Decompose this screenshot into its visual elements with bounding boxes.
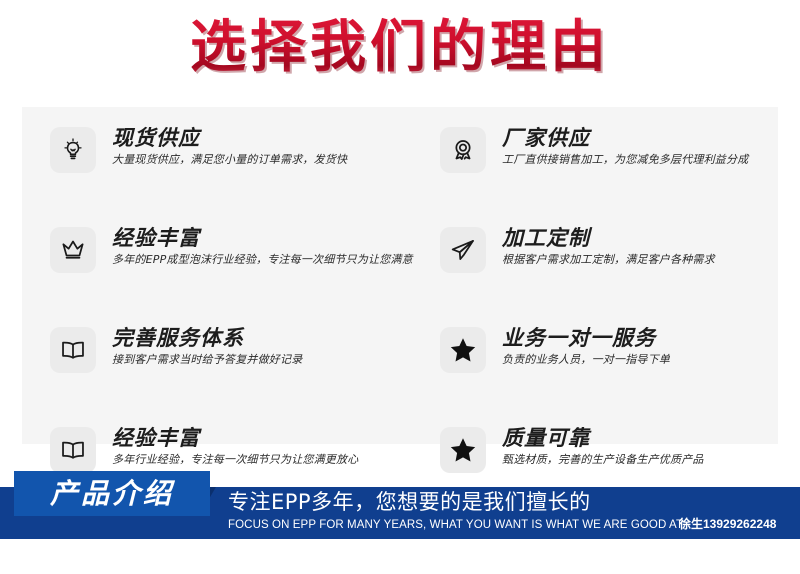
product-intro-tab-label: 产品介绍 <box>50 478 174 510</box>
feature-title: 业务一对一服务 <box>502 325 800 351</box>
banner-contact: 徐生13929262248 <box>679 517 776 532</box>
feature-desc: 多年行业经验，专注每一次细节只为让您满更放心 <box>112 451 420 468</box>
lightbulb-icon <box>50 127 96 173</box>
feature-title: 完善服务体系 <box>112 325 420 351</box>
feature-item: 业务一对一服务 负责的业务人员，一对一指导下单 <box>440 325 800 403</box>
features-column-right: 厂家供应 工厂直供接销售加工，为您减免多层代理利益分成 加工定制 根据客户需求加… <box>440 107 800 503</box>
crown-icon <box>50 227 96 273</box>
feature-desc: 接到客户需求当时给予答复并做好记录 <box>112 351 420 368</box>
open-book-icon <box>50 327 96 373</box>
medal-icon <box>440 127 486 173</box>
feature-item: 经验丰富 多年的EPP成型泡沫行业经验，专注每一次细节只为让您满意 <box>50 225 420 303</box>
open-book-icon <box>50 427 96 473</box>
feature-desc: 大量现货供应，满足您小量的订单需求，发货快 <box>112 151 420 168</box>
feature-item: 完善服务体系 接到客户需求当时给予答复并做好记录 <box>50 325 420 403</box>
feature-desc: 根据客户需求加工定制，满足客户各种需求 <box>502 251 800 268</box>
feature-item: 加工定制 根据客户需求加工定制，满足客户各种需求 <box>440 225 800 303</box>
feature-desc: 多年的EPP成型泡沫行业经验，专注每一次细节只为让您满意 <box>112 251 420 268</box>
features-panel: 现货供应 大量现货供应，满足您小量的订单需求，发货快 经验丰富 多年的EPP成型… <box>22 107 778 444</box>
feature-desc: 甄选材质，完善的生产设备生产优质产品 <box>502 451 800 468</box>
feature-item: 厂家供应 工厂直供接销售加工，为您减免多层代理利益分成 <box>440 125 800 203</box>
features-column-left: 现货供应 大量现货供应，满足您小量的订单需求，发货快 经验丰富 多年的EPP成型… <box>50 107 420 503</box>
feature-item: 现货供应 大量现货供应，满足您小量的订单需求，发货快 <box>50 125 420 203</box>
feature-title: 厂家供应 <box>502 125 800 151</box>
paper-plane-icon <box>440 227 486 273</box>
feature-title: 经验丰富 <box>112 425 420 451</box>
feature-title: 质量可靠 <box>502 425 800 451</box>
feature-title: 加工定制 <box>502 225 800 251</box>
banner-headline-en: FOCUS ON EPP FOR MANY YEARS, WHAT YOU WA… <box>228 518 683 532</box>
feature-title: 经验丰富 <box>112 225 420 251</box>
feature-desc: 工厂直供接销售加工，为您减免多层代理利益分成 <box>502 151 800 168</box>
banner-headline-cn: 专注EPP多年，您想要的是我们擅长的 <box>228 489 591 515</box>
feature-title: 现货供应 <box>112 125 420 151</box>
product-intro-tab[interactable]: 产品介绍 <box>14 471 210 516</box>
page-title: 选择我们的理由 <box>0 8 800 88</box>
star-icon <box>440 327 486 373</box>
star-icon <box>440 427 486 473</box>
feature-desc: 负责的业务人员，一对一指导下单 <box>502 351 800 368</box>
